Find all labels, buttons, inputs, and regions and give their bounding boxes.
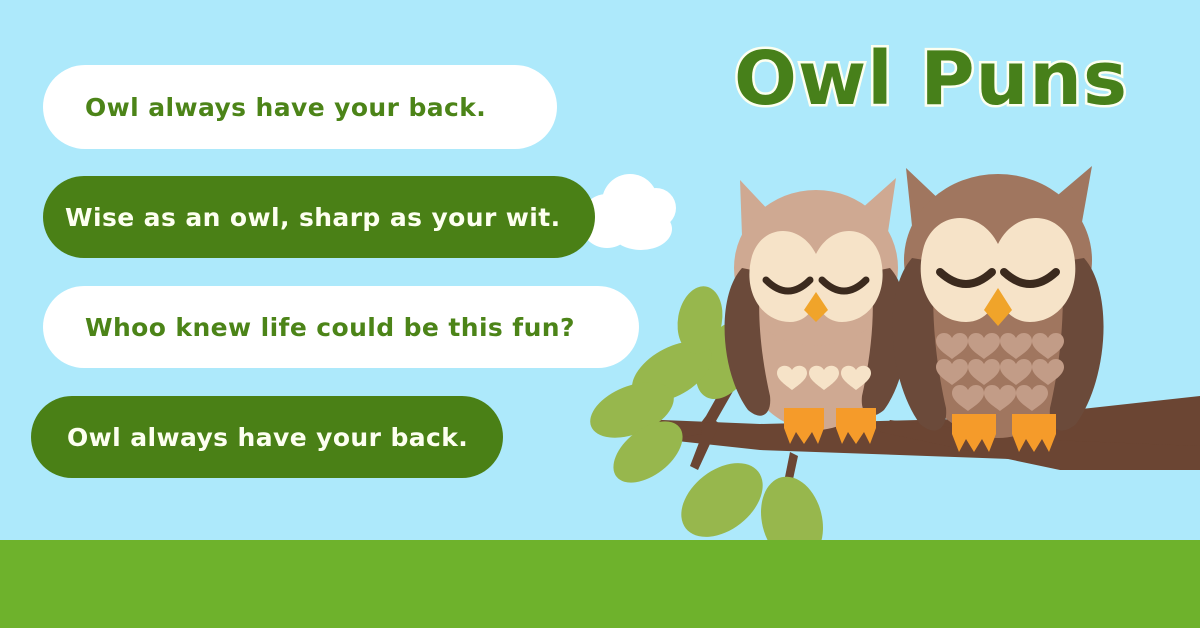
page-title: Owl Puns bbox=[734, 42, 1128, 116]
pun-pill-2[interactable]: Wise as an owl, sharp as your wit. bbox=[43, 176, 595, 258]
pun-text: Whoo knew life could be this fun? bbox=[85, 313, 575, 342]
leaf bbox=[667, 448, 776, 552]
pun-text: Wise as an owl, sharp as your wit. bbox=[65, 203, 561, 232]
poster-canvas: Owl Puns Owl always have your back. Wise… bbox=[0, 0, 1200, 628]
pun-text: Owl always have your back. bbox=[67, 423, 468, 452]
pun-pill-3[interactable]: Whoo knew life could be this fun? bbox=[43, 286, 639, 368]
owl-left bbox=[725, 178, 908, 444]
grass-ground bbox=[0, 540, 1200, 628]
pun-pill-4[interactable]: Owl always have your back. bbox=[31, 396, 503, 478]
owl-right bbox=[892, 166, 1103, 452]
pun-pill-1[interactable]: Owl always have your back. bbox=[43, 65, 557, 149]
pun-text: Owl always have your back. bbox=[85, 93, 486, 122]
